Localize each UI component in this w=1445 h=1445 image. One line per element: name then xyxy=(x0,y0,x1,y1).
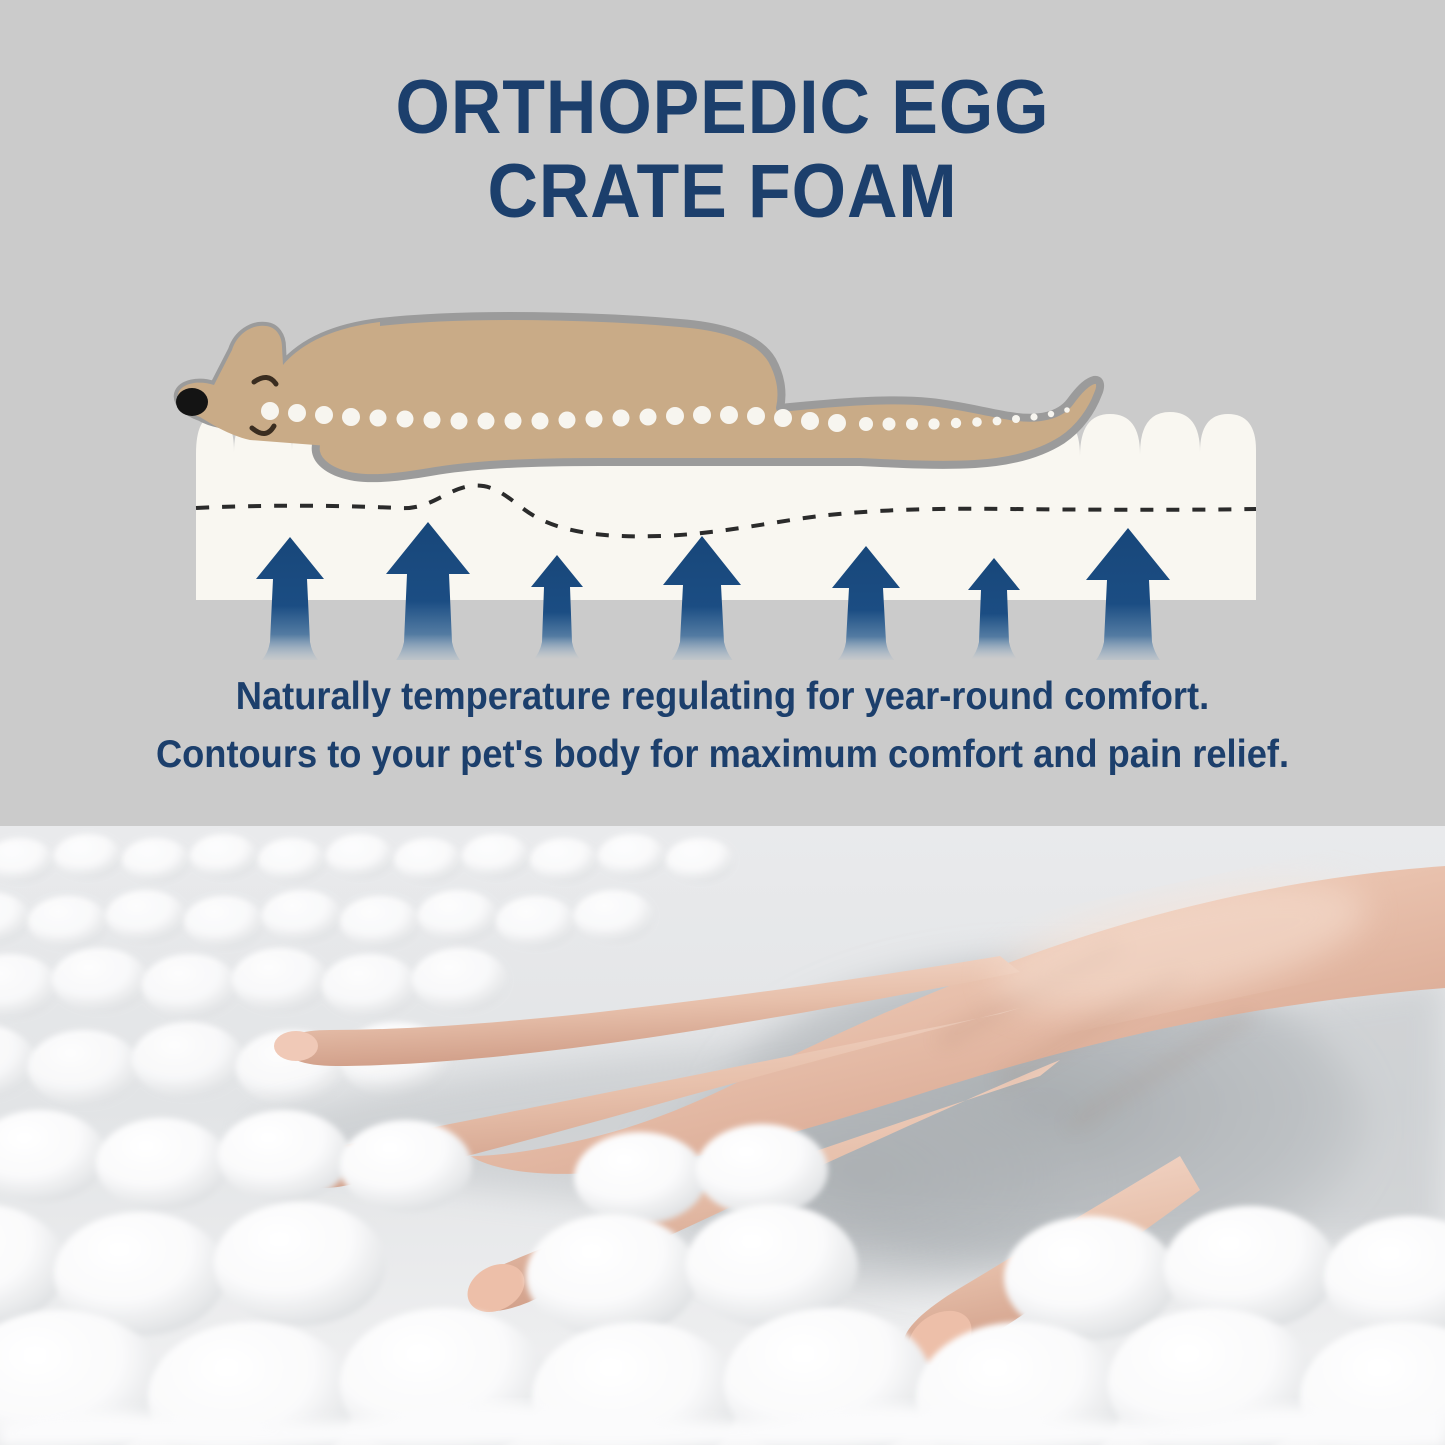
caption-line-2: Contours to your pet's body for maximum … xyxy=(51,726,1395,784)
page-title: ORTHOPEDIC EGG CRATE FOAM xyxy=(58,66,1387,234)
foam-photo-illustration xyxy=(0,826,1445,1445)
caption-line-1: Naturally temperature regulating for yea… xyxy=(51,668,1395,726)
dog-on-foam-diagram xyxy=(0,290,1445,660)
foam-photo xyxy=(0,826,1445,1445)
caption-block: Naturally temperature regulating for yea… xyxy=(51,668,1395,784)
page-title-line-2: CRATE FOAM xyxy=(58,150,1387,234)
info-panel: ORTHOPEDIC EGG CRATE FOAM xyxy=(0,0,1445,826)
page-title-line-1: ORTHOPEDIC EGG xyxy=(58,66,1387,150)
dog-nose xyxy=(176,388,208,416)
product-infographic-page: ORTHOPEDIC EGG CRATE FOAM xyxy=(0,0,1445,1445)
sleeping-dog xyxy=(176,316,1100,478)
fingernail-index xyxy=(274,1031,318,1061)
